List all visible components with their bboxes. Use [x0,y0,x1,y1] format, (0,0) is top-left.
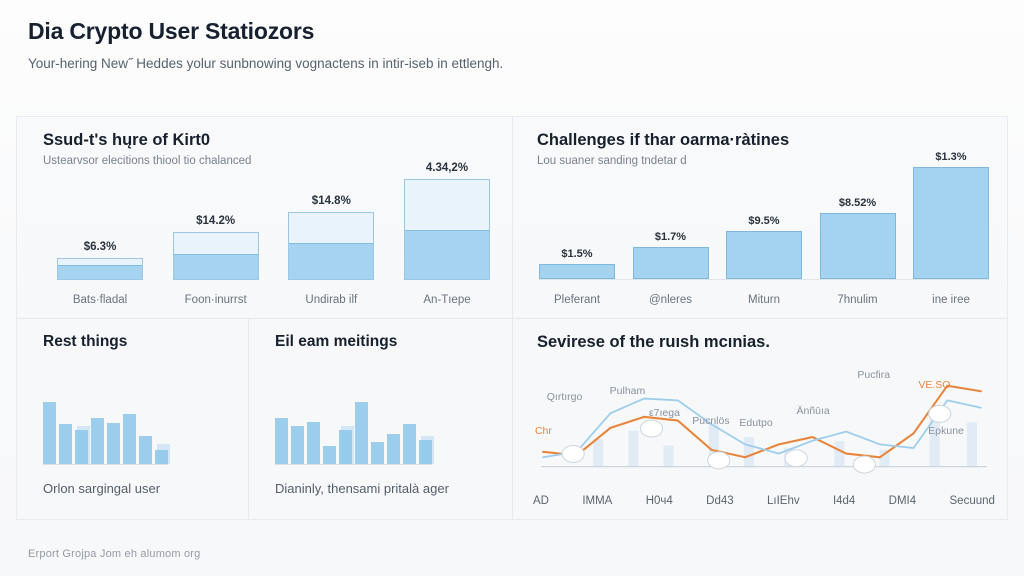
mini-bar [275,418,288,464]
line-chart-marker [562,445,584,462]
line-series-blue [543,398,981,457]
stacked-bar-value: 4.34,2% [426,162,468,174]
stacked-bar-lower-segment [58,265,142,279]
panel-mini-right-caption: Dianinly, thensami pritalà ager [275,481,449,497]
line-chart-x-label: LıІEhᴠ [767,495,800,507]
mini-bar [323,446,336,464]
line-chart-x-label: Secuund [950,495,995,507]
mini-bar [355,402,368,464]
panel-mini-right-title: Eil eam meitings [275,333,502,351]
right-column: Challenges if thar oarma·ràtines Lou sua… [513,117,1007,519]
dashboard-page: Dia Crypto User Statiozors Your-hering N… [0,0,1024,576]
left-bottom-row: Rest things Orlon sargingal user Eil eam… [17,319,512,519]
plain-bar-chart: $1.5%$1.7%$9.5%$8.52%$1.3% [539,149,989,280]
mini-bar-item [387,434,400,464]
stacked-bar-label: Foon·inurrst [173,294,259,306]
stacked-bar [288,212,374,280]
plain-bar-value: $1.3% [935,151,966,163]
plain-bar-label: Pleferant [539,294,615,306]
plain-bar-value: $1.7% [655,231,686,243]
left-column: Ssud-t's hųre of Kirt0 Ustearvsor elecit… [17,117,513,519]
plain-bar-item: $1.7% [633,149,709,279]
plain-bar-label: @nleres [633,294,709,306]
mini-bar [371,442,384,464]
mini-bar [339,430,352,464]
plain-bar [820,213,896,279]
panel-stacked-bars: Ssud-t's hųre of Kirt0 Ustearvsor elecit… [17,117,512,319]
stacked-bar-lower-segment [174,254,258,279]
mini-bar-item [339,430,352,464]
mini-bar-item [91,418,104,464]
stacked-bar-chart: $6.3%$14.2%$14.8%4.34,2% [57,162,490,280]
stacked-bar-value: $6.3% [84,241,117,253]
plain-bar-item: $9.5% [726,149,802,279]
stacked-bar-lower-segment [405,230,489,279]
mini-bar-item [323,446,336,464]
stacked-bar-axis-labels: Bats·fladalFoon·inurrstUndirab ilfAn-Tıe… [57,294,490,306]
mini-bar-item [107,423,120,464]
mini-bar-item [419,440,432,464]
plain-bar-item: $1.5% [539,149,615,279]
plain-bar-value: $9.5% [748,215,779,227]
line-chart-axis-labels: ADIMMAH0ч4Dd43LıІEhᴠI4d4DMI4Secuund [533,495,995,507]
mini-bar [139,436,152,464]
mini-bar-item [291,426,304,464]
line-chart-x-label: DMI4 [889,495,916,507]
mini-bar-item [371,442,384,464]
stacked-bar-value: $14.2% [196,215,235,227]
mini-bar-item [123,414,136,464]
line-chart-x-label: I4d4 [833,495,855,507]
panel-plain-bars: Challenges if thar oarma·ràtines Lou sua… [513,117,1007,319]
line-chart-marker [929,405,951,422]
plain-bar-axis-labels: Pleferant@nleresMiturn7hnulimine iree [539,294,989,306]
mini-bar [123,414,136,464]
line-chart-background-bar [834,441,844,466]
mini-bar-item [355,402,368,464]
mini-bar [307,422,320,464]
plain-bar-value: $1.5% [561,248,592,260]
line-chart-x-label: Dd43 [706,495,734,507]
stacked-bar [173,232,259,280]
stacked-bar [404,179,490,280]
plain-bar [633,247,709,279]
plain-bar [913,167,989,279]
line-chart-background-bar [967,422,977,466]
stacked-bar-value: $14.8% [312,195,351,207]
mini-bar-item [275,418,288,464]
panel-mini-left-caption: Orlon sargingal user [43,481,160,497]
stacked-bar-item: $14.8% [288,162,374,280]
mini-bar [291,426,304,464]
mini-bar [155,450,168,464]
mini-bar [59,424,72,464]
panel-mini-left-title: Rest things [43,333,238,351]
footer-note: Erport Grojpa Jom eh alumom org [28,548,201,560]
trend-line-chart: ChrQırtırgoPulhamε7ıegaPucnlösEdutpoÄnñū… [533,363,995,482]
plain-bar [726,231,802,279]
mini-bar [43,402,56,464]
line-chart-marker [708,451,730,468]
stacked-bar-lower-segment [289,243,373,279]
stacked-bar-item: 4.34,2% [404,162,490,280]
stacked-bar-label: Bats·fladal [57,294,143,306]
mini-bar [107,423,120,464]
panel-stacked-title: Ssud-t's hųre of Kirt0 [43,131,494,150]
mini-bar-item [403,424,416,464]
plain-bar-item: $1.3% [913,149,989,279]
line-chart-background-bar [593,439,603,467]
panels-board: Ssud-t's hųre of Kirt0 Ustearvsor elecit… [16,116,1008,520]
page-title: Dia Crypto User Statiozors [28,18,996,44]
panel-mini-left: Rest things Orlon sargingal user [17,319,249,519]
mini-bar-item [155,450,168,464]
plain-bar-label: 7hnulim [820,294,896,306]
line-chart-marker [785,449,807,466]
stacked-bar [57,258,143,280]
plain-bar-label: Miturn [726,294,802,306]
mini-bar-item [75,430,88,464]
plain-bar-value: $8.52% [839,197,876,209]
line-chart-background-bar [744,437,754,467]
line-chart-marker [853,456,875,473]
mini-bar-item [307,422,320,464]
mini-bar [75,430,88,464]
line-chart-marker [640,420,662,437]
panel-mini-right: Eil eam meitings Dianinly, thensami prit… [249,319,512,519]
panel-lines-title: Sevirese of the ruısh mcınias. [537,333,993,352]
panel-plain-title: Challenges if thar oarma·ràtines [537,131,993,150]
plain-bar [539,264,615,279]
mini-bar [419,440,432,464]
mini-bar-chart-right [275,378,432,465]
plain-bar-label: ine iree [913,294,989,306]
stacked-bar-label: An-Tıepe [404,294,490,306]
line-chart-background-bar [664,445,674,466]
plain-bar-item: $8.52% [820,149,896,279]
panel-line-chart: Sevirese of the ruısh mcınias. ChrQırtır… [513,319,1007,520]
line-chart-background-bar [628,430,638,466]
line-chart-x-label: AD [533,495,549,507]
mini-bar-chart-left [43,378,168,465]
mini-bar-item [59,424,72,464]
mini-bar [91,418,104,464]
stacked-bar-item: $6.3% [57,162,143,280]
page-subtitle: Your-hering New˝ Heddes yolur sunbnowing… [28,56,996,72]
page-header: Dia Crypto User Statiozors Your-hering N… [28,18,996,73]
stacked-bar-item: $14.2% [173,162,259,280]
line-chart-x-label: H0ч4 [646,495,673,507]
mini-bar [387,434,400,464]
line-chart-x-label: IMMA [582,495,612,507]
stacked-bar-label: Undirab ilf [288,294,374,306]
mini-bar-item [139,436,152,464]
mini-bar [403,424,416,464]
mini-bar-item [43,402,56,464]
